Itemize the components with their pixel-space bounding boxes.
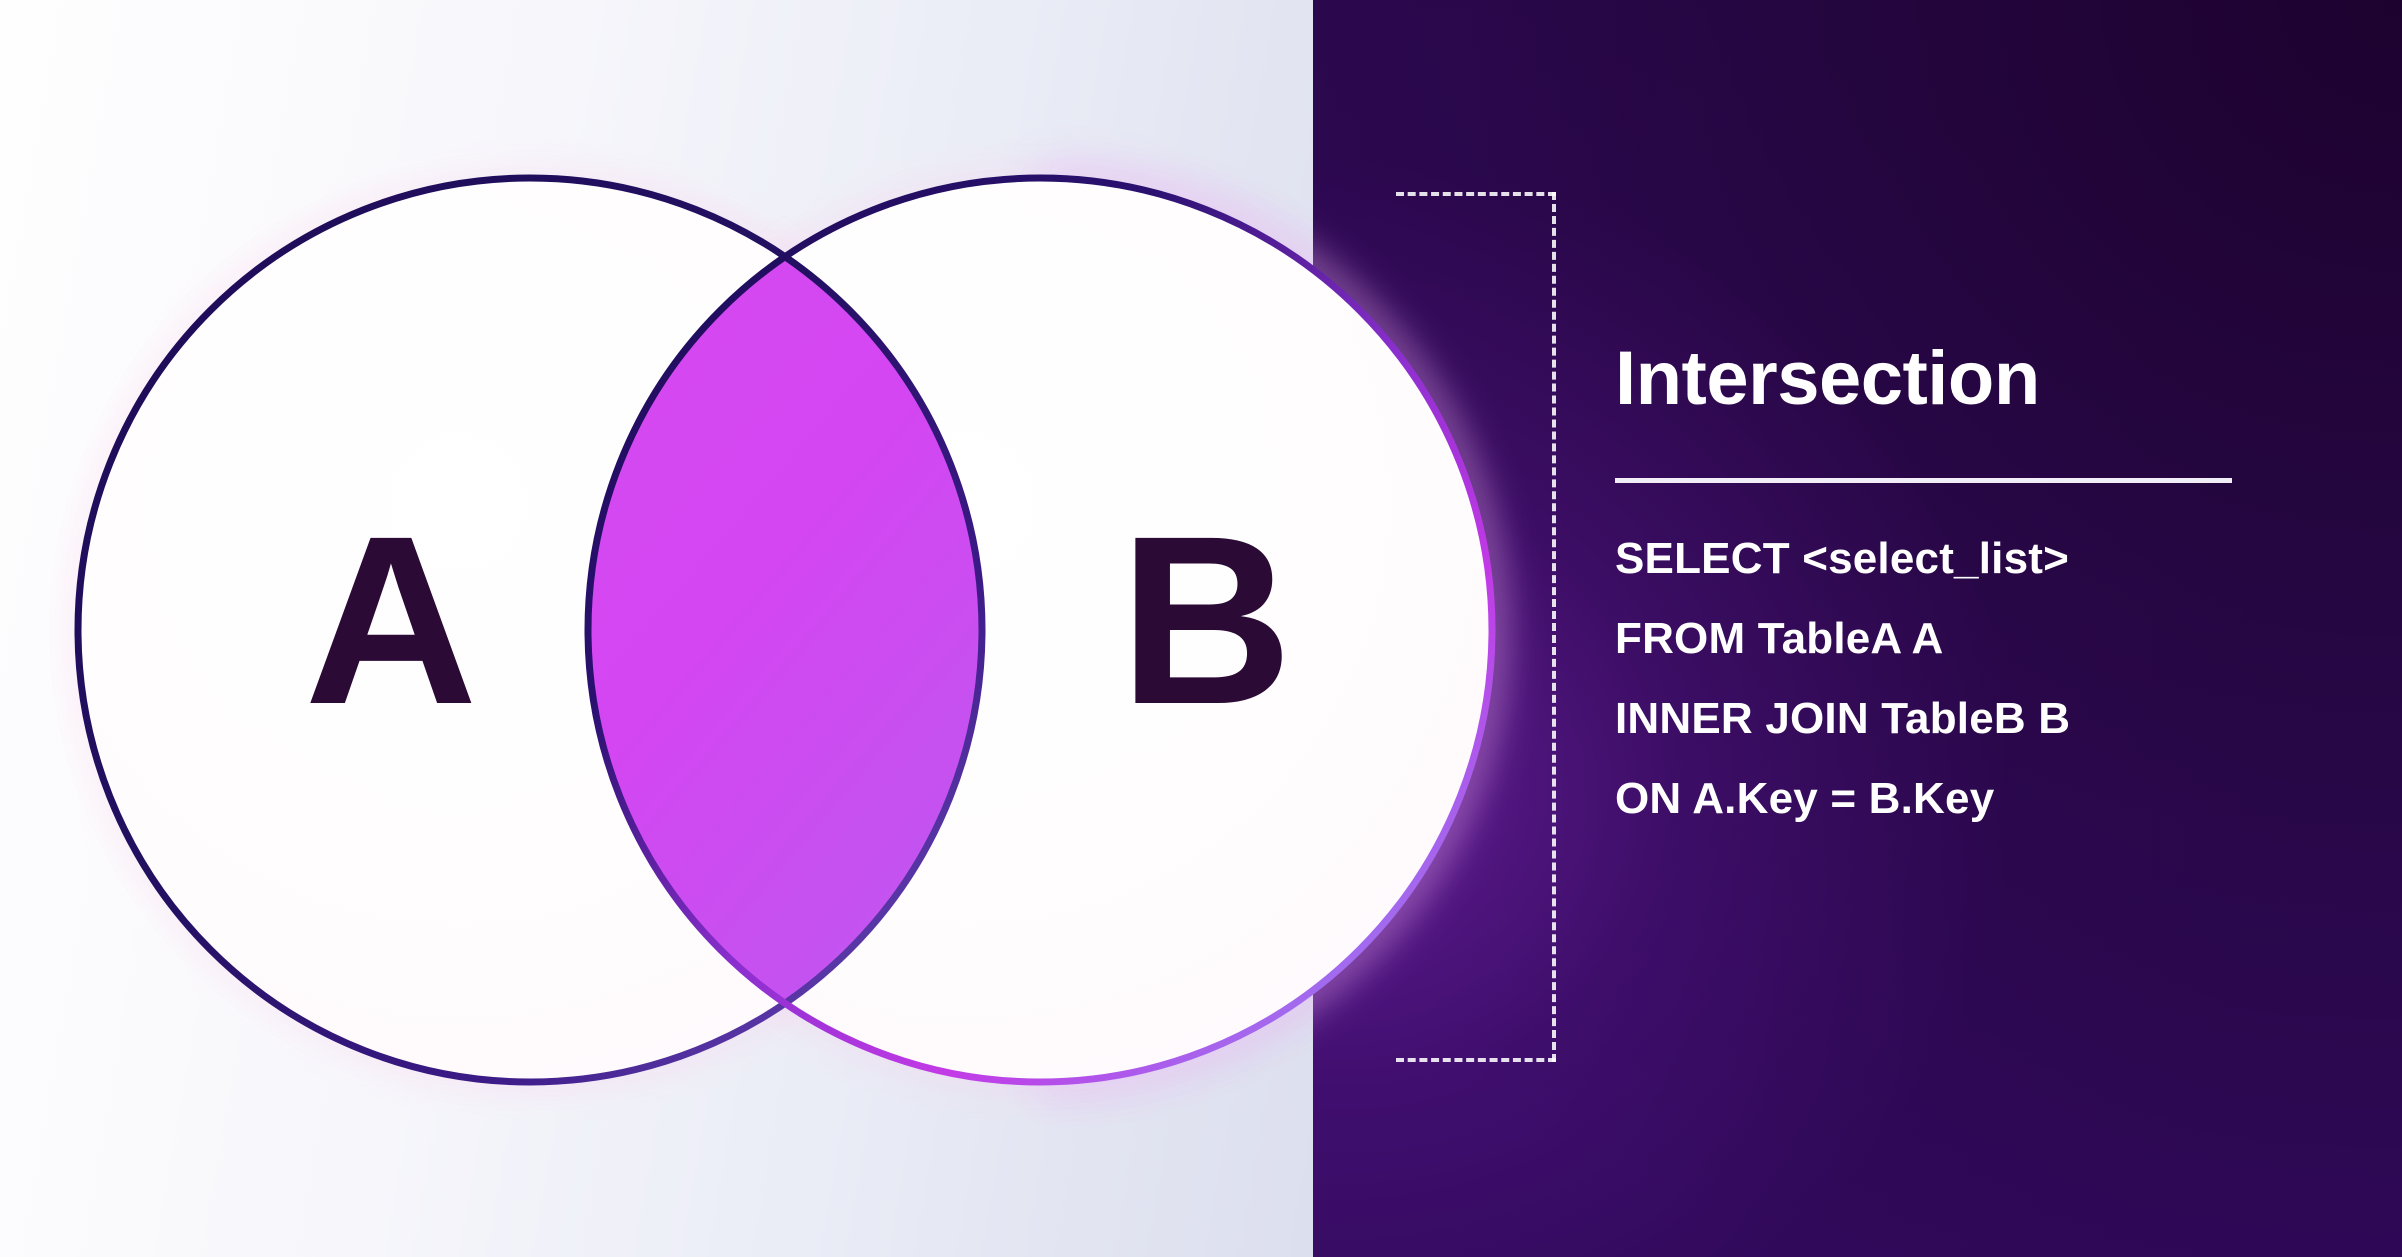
venn-label-b: B: [1060, 500, 1350, 740]
sql-line-on: ON A.Key = B.Key: [1615, 777, 2355, 821]
panel-title: Intersection: [1615, 340, 2355, 418]
title-divider: [1615, 478, 2232, 483]
sql-line-from: FROM TableA A: [1615, 617, 2355, 661]
sql-line-select: SELECT <select_list>: [1615, 537, 2355, 581]
venn-diagram-slide: A B Intersection SELECT <select_list> FR…: [0, 0, 2402, 1257]
description-panel: Intersection SELECT <select_list> FROM T…: [1615, 340, 2355, 821]
sql-line-inner-join: INNER JOIN TableB B: [1615, 697, 2355, 741]
sql-code-block[interactable]: SELECT <select_list> FROM TableA A INNER…: [1615, 537, 2355, 821]
venn-label-a: A: [245, 500, 535, 740]
